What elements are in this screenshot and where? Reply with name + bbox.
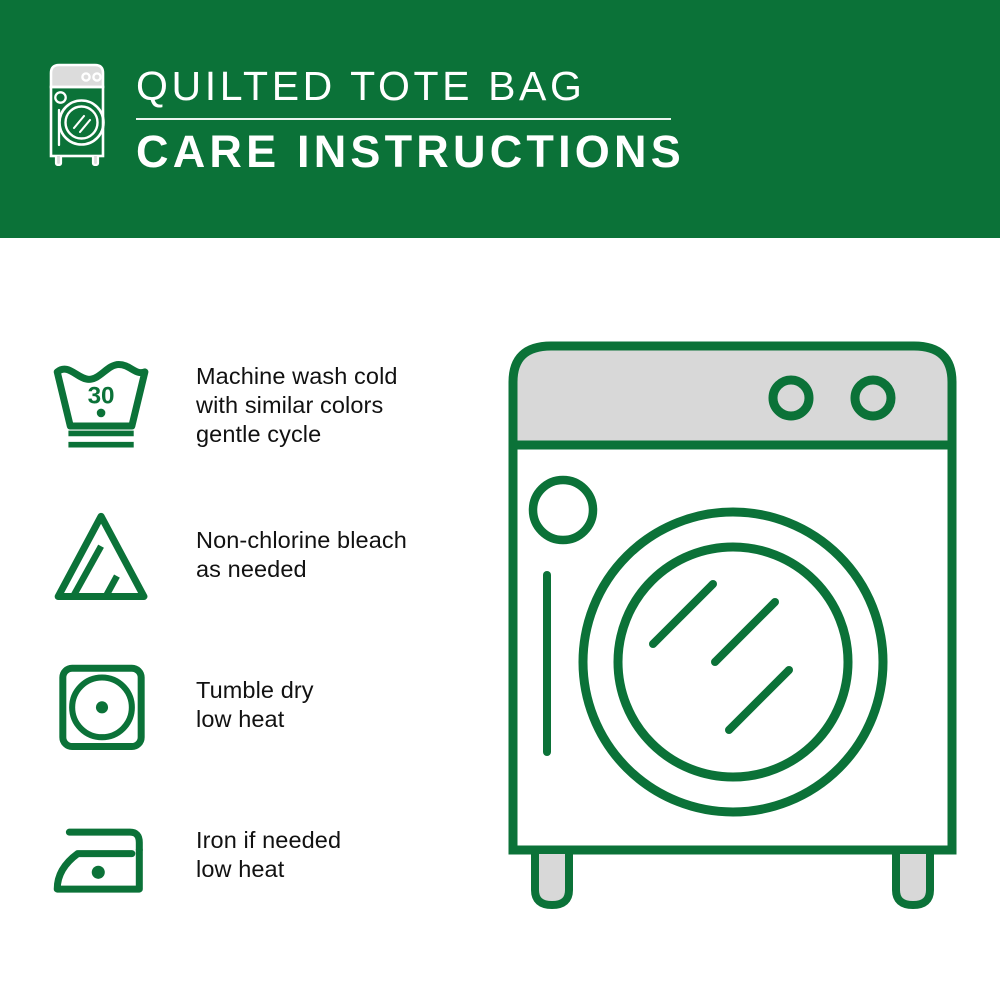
- care-text-bleach: Non-chlorine bleach as needed: [196, 526, 407, 584]
- care-row-bleach: Non-chlorine bleach as needed: [46, 480, 476, 630]
- care-text-tumble-dry: Tumble dry low heat: [196, 676, 314, 734]
- bleach-triangle-icon: [46, 507, 170, 604]
- care-row-tumble-dry: Tumble dry low heat: [46, 630, 476, 780]
- care-text-iron: Iron if needed low heat: [196, 826, 341, 884]
- leg-left: [535, 850, 569, 905]
- wash-tub-30-icon: 30: [46, 357, 170, 454]
- care-line: Non-chlorine bleach: [196, 526, 407, 555]
- care-text-wash: Machine wash cold with similar colors ge…: [196, 362, 398, 449]
- care-line: low heat: [196, 855, 341, 884]
- leg-right: [896, 850, 930, 905]
- tumble-dry-icon: [46, 657, 170, 754]
- care-line: low heat: [196, 705, 314, 734]
- care-line: Tumble dry: [196, 676, 314, 705]
- care-line: Machine wash cold: [196, 362, 398, 391]
- washing-machine-icon: [44, 62, 110, 166]
- care-row-wash: 30 Machine wash cold with similar colors…: [46, 330, 476, 480]
- header-content: QUILTED TOTE BAG CARE INSTRUCTIONS: [44, 62, 685, 178]
- title-divider: [136, 118, 671, 120]
- page-title: CARE INSTRUCTIONS: [136, 126, 685, 178]
- care-line: as needed: [196, 555, 407, 584]
- care-instruction-list: 30 Machine wash cold with similar colors…: [46, 330, 476, 930]
- wash-temp-label: 30: [88, 382, 115, 409]
- control-panel: [513, 346, 952, 445]
- iron-icon: [46, 807, 170, 904]
- header-band: QUILTED TOTE BAG CARE INSTRUCTIONS: [0, 0, 1000, 238]
- front-load-washing-machine-illustration: [495, 332, 970, 932]
- care-line: with similar colors: [196, 391, 398, 420]
- care-instructions-infographic: QUILTED TOTE BAG CARE INSTRUCTIONS 30 Ma…: [0, 0, 1000, 1000]
- care-row-iron: Iron if needed low heat: [46, 780, 476, 930]
- care-line: gentle cycle: [196, 420, 398, 449]
- product-title: QUILTED TOTE BAG: [136, 62, 585, 114]
- care-line: Iron if needed: [196, 826, 341, 855]
- header-titles: QUILTED TOTE BAG CARE INSTRUCTIONS: [136, 62, 685, 178]
